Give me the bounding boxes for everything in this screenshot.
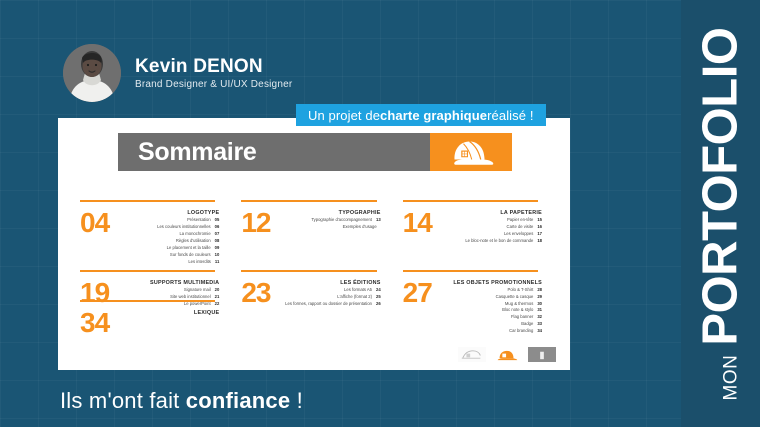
avatar-photo-icon bbox=[63, 44, 121, 102]
toc-entry-details: LA PAPETERIE Papier en-tête15 Carte de v… bbox=[438, 209, 548, 245]
toc-subitem: Règles d'utilisation08 bbox=[115, 238, 219, 245]
toc-entry-details: LOGOTYPE Présentation05 Les couleurs ins… bbox=[115, 209, 225, 266]
project-banner-prefix: Un projet de bbox=[308, 108, 380, 123]
side-panel-small-label: MON bbox=[720, 354, 742, 400]
toc-divider bbox=[403, 270, 538, 272]
toc-subitem: Signature mail20 bbox=[115, 287, 219, 294]
toc-subitem: Carte de visite16 bbox=[438, 224, 542, 231]
toc-divider bbox=[241, 200, 376, 202]
avatar bbox=[63, 44, 121, 102]
tagline-prefix: Ils m'ont fait bbox=[60, 388, 186, 413]
toc-lexique-row: 34 LEXIQUE bbox=[80, 300, 548, 350]
toc-subitem: Les interdits11 bbox=[115, 259, 219, 266]
cap-logo-icon bbox=[447, 137, 495, 167]
author-text-group: Kevin DENON Brand Designer & UI/UX Desig… bbox=[135, 56, 292, 90]
toc-subitem: Les formats A524 bbox=[276, 287, 380, 294]
toc-subitem: Le placement et la taille09 bbox=[115, 245, 219, 252]
side-panel-text-group: MON PORTOFOLIO bbox=[696, 27, 745, 400]
toc-divider bbox=[241, 270, 376, 272]
slide-card: Sommaire bbox=[58, 118, 570, 370]
toc-subitem: Présentation05 bbox=[115, 217, 219, 224]
toc-subitem: Les enveloppes17 bbox=[438, 231, 542, 238]
toc-divider bbox=[403, 200, 538, 202]
sommaire-header-bar: Sommaire bbox=[118, 133, 512, 171]
tagline-strong: confiance bbox=[186, 388, 291, 413]
tagline-suffix: ! bbox=[290, 388, 303, 413]
toc-subitem: Sur fonds de couleurs10 bbox=[115, 252, 219, 259]
toc-subitem: Exemples d'usage bbox=[276, 224, 380, 231]
toc-divider bbox=[80, 300, 215, 302]
sommaire-title-block: Sommaire bbox=[118, 133, 430, 171]
toc-heading: LES ÉDITIONS bbox=[276, 279, 380, 287]
side-panel-title: PORTOFOLIO bbox=[696, 27, 745, 345]
toc-page-number: 14 bbox=[403, 209, 432, 237]
brand-logo-block bbox=[430, 133, 512, 171]
toc-heading: SUPPORTS MULTIMEDIA bbox=[115, 279, 219, 287]
toc-subitem: Les couleurs institutionnelles06 bbox=[115, 224, 219, 231]
toc-divider bbox=[80, 270, 215, 272]
toc-entry[interactable]: 14 LA PAPETERIE Papier en-tête15 Carte d… bbox=[403, 200, 548, 266]
toc-entry[interactable]: 12 TYPOGRAPHIE Typographie d'accompagnem… bbox=[241, 200, 386, 266]
author-role: Brand Designer & UI/UX Designer bbox=[135, 79, 292, 90]
side-panel-portfolio: MON PORTOFOLIO bbox=[681, 0, 760, 427]
toc-entry-lexique[interactable]: 34 LEXIQUE bbox=[80, 300, 225, 350]
toc-entry-details: LEXIQUE bbox=[115, 309, 225, 317]
sketch-logo-icon bbox=[458, 347, 486, 362]
toc-subitem: Polo & T-Shirt28 bbox=[438, 287, 542, 294]
toc-divider bbox=[80, 200, 215, 202]
toc-heading: TYPOGRAPHIE bbox=[276, 209, 380, 217]
gray-logo-icon bbox=[528, 347, 556, 362]
toc-heading: LOGOTYPE bbox=[115, 209, 219, 217]
page-title: Sommaire bbox=[138, 138, 257, 167]
project-banner-strong: charte graphique bbox=[380, 108, 487, 123]
toc-subitem: Typographie d'accompagnement13 bbox=[276, 217, 380, 224]
toc-heading: LA PAPETERIE bbox=[438, 209, 542, 217]
toc-page-number: 34 bbox=[80, 309, 109, 337]
toc-heading: LEXIQUE bbox=[115, 309, 219, 317]
card-footer-logos bbox=[458, 347, 556, 362]
toc-page-number: 04 bbox=[80, 209, 109, 237]
toc-subitem: Papier en-tête15 bbox=[438, 217, 542, 224]
tagline: Ils m'ont fait confiance ! bbox=[60, 388, 303, 414]
toc-heading: LES OBJETS PROMOTIONNELS bbox=[438, 279, 542, 287]
toc-entry[interactable]: 04 LOGOTYPE Présentation05 Les couleurs … bbox=[80, 200, 225, 266]
project-banner-suffix: réalisé ! bbox=[487, 108, 533, 123]
toc-page-number: 12 bbox=[241, 209, 270, 237]
slide-canvas: MON PORTOFOLIO bbox=[0, 0, 760, 427]
project-banner: Un projet de charte graphique réalisé ! bbox=[296, 104, 546, 126]
toc-subitem: Le bloc-note et le bon de commande18 bbox=[438, 238, 542, 245]
cap-logo-icon-small bbox=[493, 347, 521, 362]
toc-entry-details: TYPOGRAPHIE Typographie d'accompagnement… bbox=[276, 209, 386, 231]
toc-subitem: La monochromie07 bbox=[115, 231, 219, 238]
author-header: Kevin DENON Brand Designer & UI/UX Desig… bbox=[63, 44, 292, 102]
author-name: Kevin DENON bbox=[135, 56, 292, 78]
